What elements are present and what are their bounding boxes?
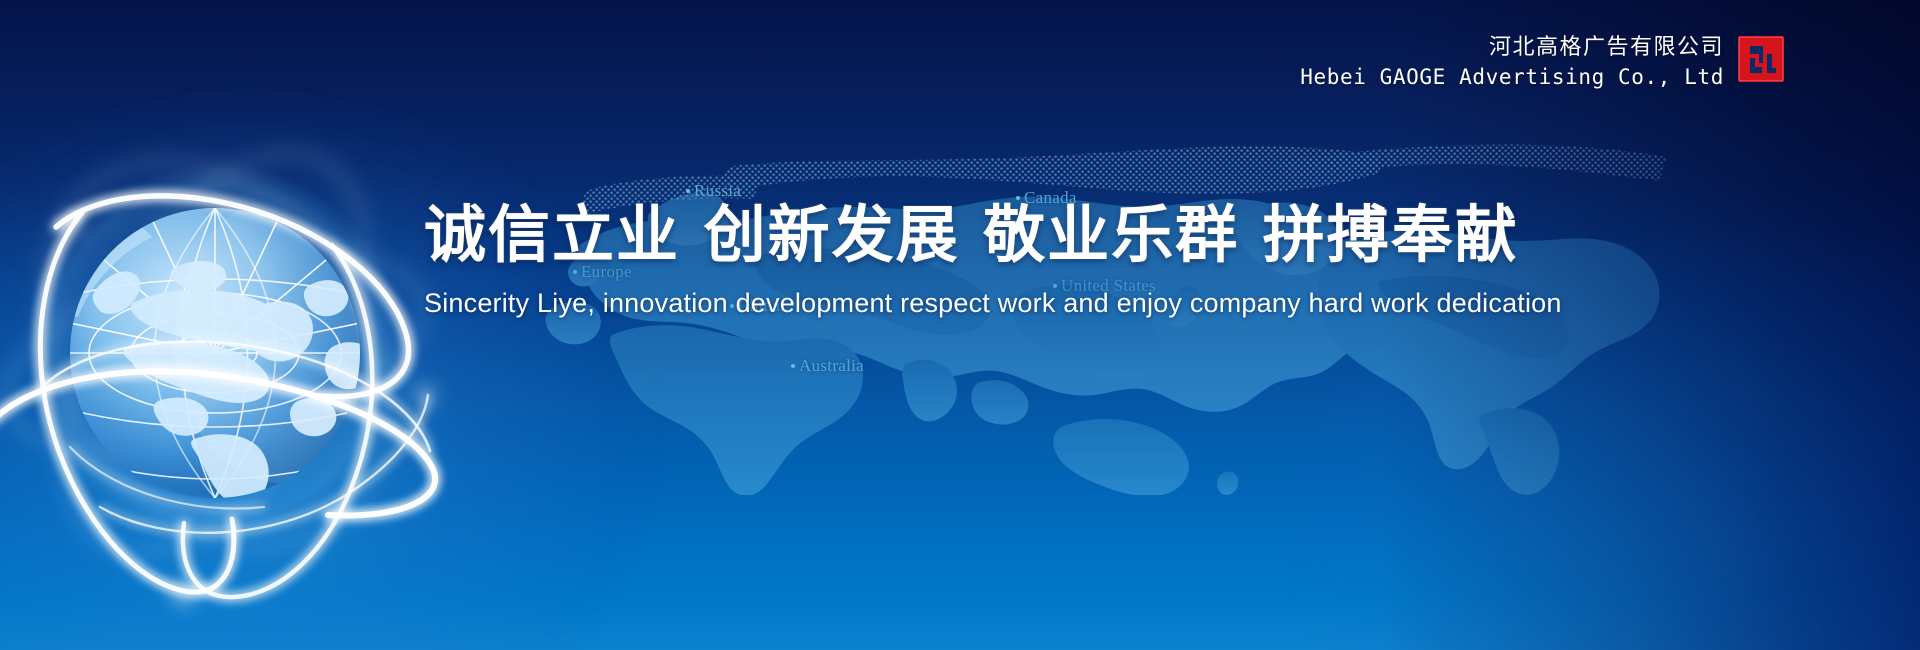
map-pin-dot-united-states <box>1053 284 1057 288</box>
map-pin-dot-australia <box>791 364 795 368</box>
slogan-subtitle-en: Sincerity Liye, innovation development r… <box>424 286 1464 320</box>
map-label-text: Canada <box>1024 188 1077 207</box>
world-map-silhouette <box>430 95 1700 495</box>
map-label-china: China <box>730 296 780 316</box>
map-pin-dot-canada <box>1016 196 1020 200</box>
map-label-text: China <box>738 296 780 315</box>
map-label-text: Russia <box>694 181 741 200</box>
company-name-cn: 河北高格广告有限公司 <box>1300 34 1724 62</box>
company-name-group: 河北高格广告有限公司 Hebei GAOGE Advertising Co., … <box>1300 34 1738 92</box>
map-label-text: United States <box>1061 276 1156 295</box>
left-glow-wash <box>0 90 660 650</box>
company-logo-icon <box>1738 36 1784 82</box>
map-label-australia: Australia <box>791 356 864 376</box>
map-label-russia: Russia <box>686 181 741 201</box>
map-label-europe: Europe <box>573 262 632 282</box>
map-pin-dot-china <box>730 304 734 308</box>
map-label-text: Europe <box>581 262 632 281</box>
map-pin-dot-russia <box>686 189 690 193</box>
company-name-en: Hebei GAOGE Advertising Co., Ltd <box>1300 62 1724 92</box>
map-pin-dot-europe <box>573 270 577 274</box>
slogan-block: 诚信立业 创新发展 敬业乐群 拼搏奉献 Sincerity Liye, inno… <box>424 198 1464 320</box>
globe-network-icon <box>0 95 450 605</box>
company-identity: 河北高格广告有限公司 Hebei GAOGE Advertising Co., … <box>1300 34 1920 92</box>
map-right-fade <box>1380 0 1920 650</box>
company-banner: Russia Europe China Canada United States… <box>0 0 1920 650</box>
map-label-united-states: United States <box>1053 276 1156 296</box>
slogan-headline-cn: 诚信立业 创新发展 敬业乐群 拼搏奉献 <box>424 198 1464 272</box>
map-label-canada: Canada <box>1016 188 1077 208</box>
bottom-right-glow-wash <box>1280 230 1920 650</box>
map-label-text: Australia <box>799 356 864 375</box>
